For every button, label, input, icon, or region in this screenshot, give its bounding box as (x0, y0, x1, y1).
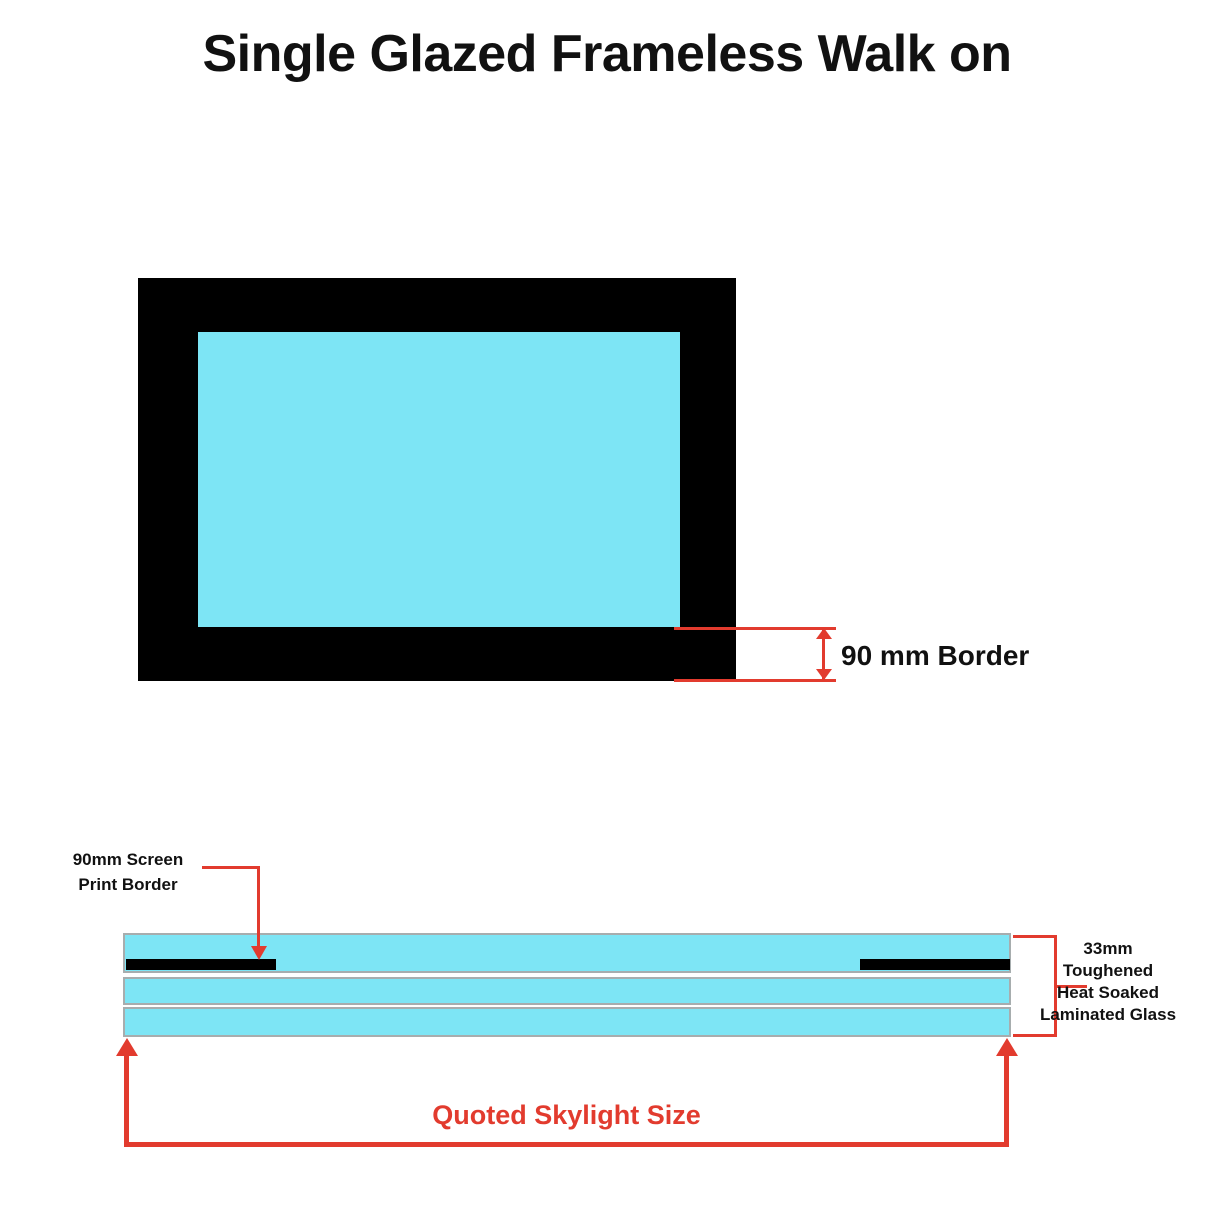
glass-spec-line-2: Toughened (1024, 960, 1192, 982)
plan-view-border-frame (138, 278, 736, 681)
glass-spec-line-3: Heat Soaked (1024, 982, 1192, 1004)
screen-print-band-left (126, 959, 276, 970)
border-extension-line-bottom (674, 679, 836, 682)
arrow-up-icon (116, 1038, 138, 1056)
glass-spec-line-1: 33mm (1024, 938, 1192, 960)
quoted-size-dimension-line (124, 1142, 1009, 1147)
page-title: Single Glazed Frameless Walk on (0, 26, 1214, 83)
glass-specification-label: 33mm Toughened Heat Soaked Laminated Gla… (1024, 938, 1192, 1026)
arrow-down-icon (816, 669, 832, 680)
quoted-size-label: Quoted Skylight Size (124, 1100, 1009, 1131)
screen-print-leader-horizontal (202, 866, 260, 869)
screen-print-label-line-2: Print Border (58, 873, 198, 898)
screen-print-band-right (860, 959, 1010, 970)
plan-view-glass-area (198, 332, 680, 627)
arrow-up-icon (996, 1038, 1018, 1056)
glass-pane-bottom (123, 1007, 1011, 1037)
glass-spec-line-4: Laminated Glass (1024, 1004, 1192, 1026)
screen-print-label-line-1: 90mm Screen (58, 848, 198, 873)
glass-pane-middle (123, 977, 1011, 1005)
screen-print-leader-vertical (257, 866, 260, 948)
arrow-up-icon (816, 628, 832, 639)
arrow-down-icon (251, 946, 267, 960)
border-dimension-label: 90 mm Border (841, 640, 1029, 672)
screen-print-border-label: 90mm Screen Print Border (58, 848, 198, 897)
diagram-canvas: Single Glazed Frameless Walk on 90 mm Bo… (0, 0, 1214, 1214)
border-extension-line-top (674, 627, 836, 630)
